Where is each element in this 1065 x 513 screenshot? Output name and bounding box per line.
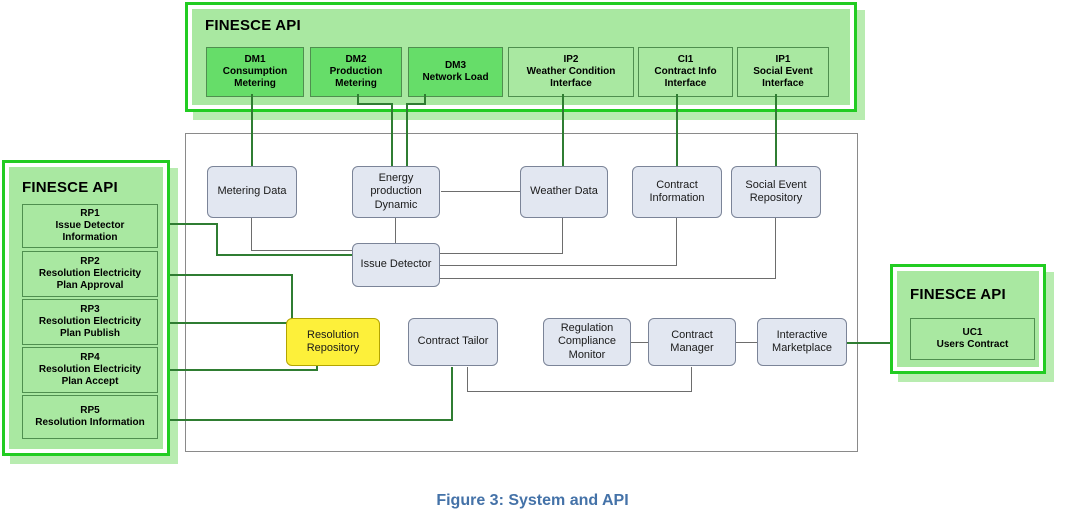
left-api-panel-title: FINESCE API — [22, 179, 118, 196]
wire-contract-manager-to-marketplace — [735, 342, 758, 343]
api-box-dm1[interactable]: DM1 Consumption Metering — [206, 47, 304, 97]
api-box-rp5-line2: Resolution Information — [35, 417, 144, 429]
node-interactive-marketplace[interactable]: Interactive Marketplace — [757, 318, 847, 366]
wire-weather-to-issue — [440, 253, 563, 254]
wire-dm3-to-energy — [406, 103, 408, 166]
api-box-ci1-code: CI1 — [654, 54, 716, 66]
right-api-panel: FINESCE API UC1 Users Contract — [890, 264, 1046, 374]
node-metering-data-label: Metering Data — [217, 185, 286, 198]
wire-contract-info-to-issue — [440, 265, 677, 266]
node-regulation-compliance-monitor[interactable]: Regulation Compliance Monitor — [543, 318, 631, 366]
wire-energy-to-issue — [395, 218, 396, 244]
api-box-ip2-line3: Interface — [527, 78, 616, 90]
api-box-rp1-line3: Information — [56, 232, 125, 244]
api-box-uc1-line2: Users Contract — [937, 339, 1009, 351]
api-box-ci1-line2: Contract Info — [654, 66, 716, 78]
api-box-rp5-code: RP5 — [35, 405, 144, 417]
api-box-ip1[interactable]: IP1 Social Event Interface — [737, 47, 829, 97]
wire-rp1-to-issue — [216, 254, 354, 256]
left-api-panel: FINESCE API RP1 Issue Detector Informati… — [2, 160, 170, 456]
node-energy-production-dynamic[interactable]: Energy production Dynamic — [352, 166, 440, 218]
wire-weather-down — [562, 218, 563, 254]
api-box-ip1-code: IP1 — [753, 54, 812, 66]
api-box-uc1[interactable]: UC1 Users Contract — [910, 318, 1035, 360]
node-contract-information-label: Contract Information — [633, 179, 721, 205]
node-contract-tailor[interactable]: Contract Tailor — [408, 318, 498, 366]
wire-social-event-to-issue — [440, 278, 776, 279]
wire-ip1-to-social-event — [775, 94, 777, 166]
api-box-dm1-line2: Consumption — [223, 66, 287, 78]
api-box-ip2[interactable]: IP2 Weather Condition Interface — [508, 47, 634, 97]
node-contract-manager-label: Contract Manager — [649, 329, 735, 355]
api-box-dm1-code: DM1 — [223, 54, 287, 66]
api-box-ip1-line3: Interface — [753, 78, 812, 90]
node-resolution-repository-label: Resolution Repository — [287, 329, 379, 355]
api-box-rp5[interactable]: RP5 Resolution Information — [22, 395, 158, 439]
api-box-uc1-code: UC1 — [937, 327, 1009, 339]
wire-rp1-down — [216, 223, 218, 255]
api-box-rp2-code: RP2 — [39, 256, 141, 268]
node-weather-data[interactable]: Weather Data — [520, 166, 608, 218]
api-box-rp1-code: RP1 — [56, 208, 125, 220]
node-contract-information[interactable]: Contract Information — [632, 166, 722, 218]
api-box-dm2-line3: Metering — [330, 78, 383, 90]
wire-contract-tailor-down — [467, 367, 468, 392]
node-regulation-compliance-monitor-label: Regulation Compliance Monitor — [544, 322, 630, 362]
wire-rp3-out — [155, 322, 287, 324]
node-interactive-marketplace-label: Interactive Marketplace — [758, 329, 846, 355]
api-box-rp1-line2: Issue Detector — [56, 220, 125, 232]
node-contract-manager[interactable]: Contract Manager — [648, 318, 736, 366]
node-social-event-repository-label: Social Event Repository — [732, 179, 820, 205]
wire-ip2-to-weather — [562, 94, 564, 166]
api-box-rp3-line3: Plan Publish — [39, 328, 141, 340]
node-social-event-repository[interactable]: Social Event Repository — [731, 166, 821, 218]
wire-rp5-up — [451, 367, 453, 421]
wire-energy-to-weather — [441, 191, 521, 192]
api-box-rp3-code: RP3 — [39, 304, 141, 316]
api-box-dm1-line3: Metering — [223, 78, 287, 90]
api-box-rp2[interactable]: RP2 Resolution Electricity Plan Approval — [22, 251, 158, 297]
api-box-rp1[interactable]: RP1 Issue Detector Information — [22, 204, 158, 248]
figure-caption: Figure 3: System and API — [0, 492, 1065, 510]
right-api-panel-title: FINESCE API — [910, 286, 1006, 303]
node-energy-production-dynamic-label: Energy production Dynamic — [353, 172, 439, 212]
wire-dm2-to-energy — [391, 103, 393, 166]
api-box-dm3[interactable]: DM3 Network Load — [408, 47, 503, 97]
api-box-ci1-line3: Interface — [654, 78, 716, 90]
wire-social-event-down — [775, 218, 776, 279]
wire-dm1-to-metering — [251, 94, 253, 166]
api-box-rp4[interactable]: RP4 Resolution Electricity Plan Accept — [22, 347, 158, 393]
api-box-rp3-line2: Resolution Electricity — [39, 316, 141, 328]
node-issue-detector-label: Issue Detector — [361, 258, 432, 271]
api-box-ip2-code: IP2 — [527, 54, 616, 66]
api-box-rp2-line2: Resolution Electricity — [39, 268, 141, 280]
node-weather-data-label: Weather Data — [530, 185, 598, 198]
node-metering-data[interactable]: Metering Data — [207, 166, 297, 218]
api-box-dm2-code: DM2 — [330, 54, 383, 66]
wire-rp2-down — [291, 274, 293, 320]
wire-dm2-jog — [357, 103, 393, 105]
node-contract-tailor-label: Contract Tailor — [418, 335, 489, 348]
top-api-panel: FINESCE API DM1 Consumption Metering DM2… — [185, 2, 857, 112]
wire-rp5-out — [155, 419, 452, 421]
wire-contract-manager-down — [691, 367, 692, 392]
diagram-canvas: FINESCE API DM1 Consumption Metering DM2… — [0, 0, 1065, 513]
api-box-rp4-line2: Resolution Electricity — [39, 364, 141, 376]
api-box-dm2-line2: Production — [330, 66, 383, 78]
wire-rp2-out — [155, 274, 292, 276]
api-box-ip2-line2: Weather Condition — [527, 66, 616, 78]
wire-dm3-jog — [406, 103, 426, 105]
api-box-rp4-code: RP4 — [39, 352, 141, 364]
wire-rp4-out — [155, 369, 317, 371]
node-resolution-repository[interactable]: Resolution Repository — [286, 318, 380, 366]
api-box-dm3-code: DM3 — [422, 60, 488, 72]
wire-metering-down — [251, 218, 252, 251]
top-api-panel-title: FINESCE API — [205, 17, 301, 34]
node-issue-detector[interactable]: Issue Detector — [352, 243, 440, 287]
api-box-rp3[interactable]: RP3 Resolution Electricity Plan Publish — [22, 299, 158, 345]
wire-ci1-to-contract-info — [676, 94, 678, 166]
wire-metering-to-issue — [251, 250, 353, 251]
api-box-dm3-line2: Network Load — [422, 72, 488, 84]
api-box-rp2-line3: Plan Approval — [39, 280, 141, 292]
api-box-dm2[interactable]: DM2 Production Metering — [310, 47, 402, 97]
wire-contract-tailor-across — [467, 391, 692, 392]
api-box-rp4-line3: Plan Accept — [39, 376, 141, 388]
api-box-ci1[interactable]: CI1 Contract Info Interface — [638, 47, 733, 97]
api-box-ip1-line2: Social Event — [753, 66, 812, 78]
wire-contract-info-down — [676, 218, 677, 266]
